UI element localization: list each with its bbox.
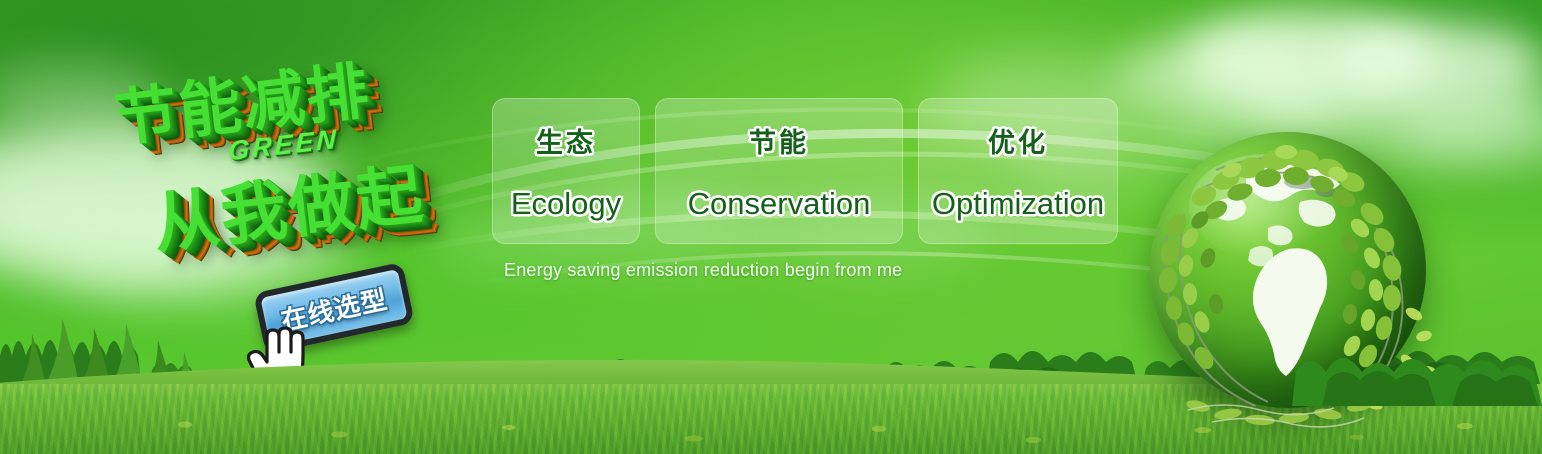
card-en-label: Conservation bbox=[688, 186, 871, 222]
card-cn-label: 节能 bbox=[749, 121, 809, 160]
hero-title-3d: 节能减排 从我做起 GREEN bbox=[100, 38, 490, 268]
feature-card-ecology[interactable]: 生态 Ecology bbox=[492, 98, 640, 244]
eco-banner: 节能减排 从我做起 GREEN 在线选型 生态 Ecology 节能 Conse… bbox=[0, 0, 1542, 454]
card-en-label: Ecology bbox=[511, 186, 621, 222]
feature-card-list: 生态 Ecology 节能 Conservation 优化 Optimizati… bbox=[492, 98, 1118, 244]
banner-tagline: Energy saving emission reduction begin f… bbox=[504, 260, 902, 281]
right-bushes-icon bbox=[1292, 310, 1542, 406]
leaf-cluster-left bbox=[1157, 208, 1224, 372]
card-en-label: Optimization bbox=[932, 186, 1104, 222]
feature-card-conservation[interactable]: 节能 Conservation bbox=[655, 98, 903, 244]
leaf-cluster-top bbox=[1188, 145, 1367, 223]
feature-card-optimization[interactable]: 优化 Optimization bbox=[918, 98, 1118, 244]
card-cn-label: 生态 bbox=[536, 121, 596, 160]
card-cn-label: 优化 bbox=[988, 121, 1048, 160]
